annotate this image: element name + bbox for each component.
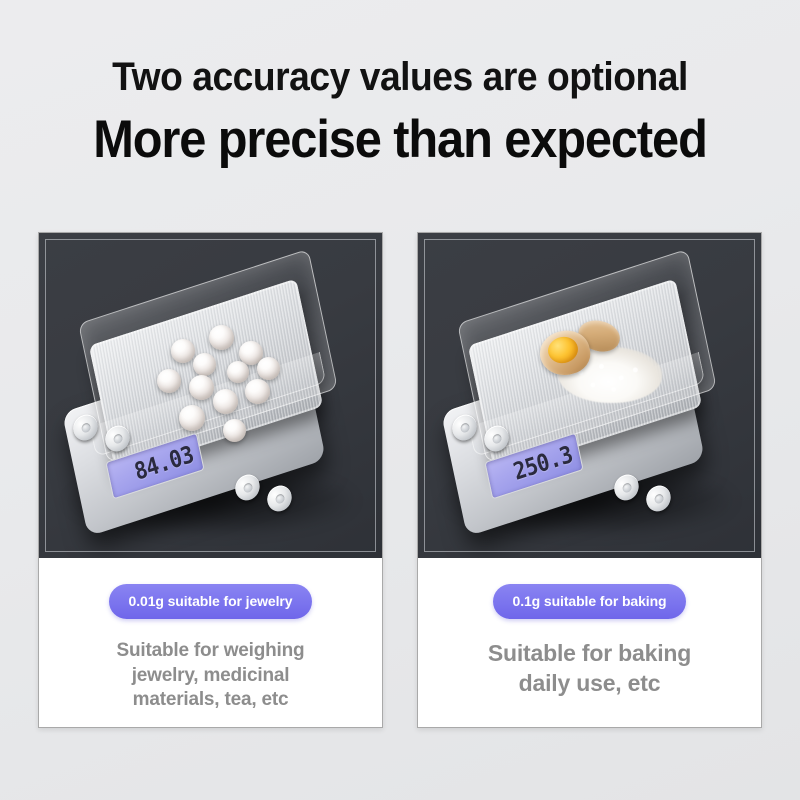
accuracy-badge-baking: 0.1g suitable for baking — [493, 584, 687, 619]
digital-scale-jewelry: 84.03 — [61, 269, 361, 529]
product-photo-baking: 250.3 — [418, 233, 761, 558]
scale-button-power[interactable] — [643, 482, 672, 514]
caption-text-baking: Suitable for baking daily use, etc — [432, 639, 747, 699]
product-photo-jewelry: 84.03 — [39, 233, 382, 558]
caption-block-jewelry: 0.01g suitable for jewelry Suitable for … — [39, 558, 382, 727]
headline-secondary: More precise than expected — [32, 112, 768, 168]
feature-card-jewelry: 84.03 0.01g suitable for jewelry Suitabl… — [38, 232, 383, 728]
scale-button-power[interactable] — [264, 482, 293, 514]
headline-block: Two accuracy values are optional More pr… — [0, 0, 800, 168]
digital-scale-baking: 250.3 — [440, 269, 740, 529]
headline-primary: Two accuracy values are optional — [28, 56, 772, 98]
caption-block-baking: 0.1g suitable for baking Suitable for ba… — [418, 558, 761, 727]
feature-card-baking: 250.3 0.1g suitable for baking Suitable … — [417, 232, 762, 728]
accuracy-badge-jewelry: 0.01g suitable for jewelry — [109, 584, 313, 619]
feature-card-row: 84.03 0.01g suitable for jewelry Suitabl… — [0, 232, 800, 728]
caption-text-jewelry: Suitable for weighing jewelry, medicinal… — [53, 639, 368, 713]
